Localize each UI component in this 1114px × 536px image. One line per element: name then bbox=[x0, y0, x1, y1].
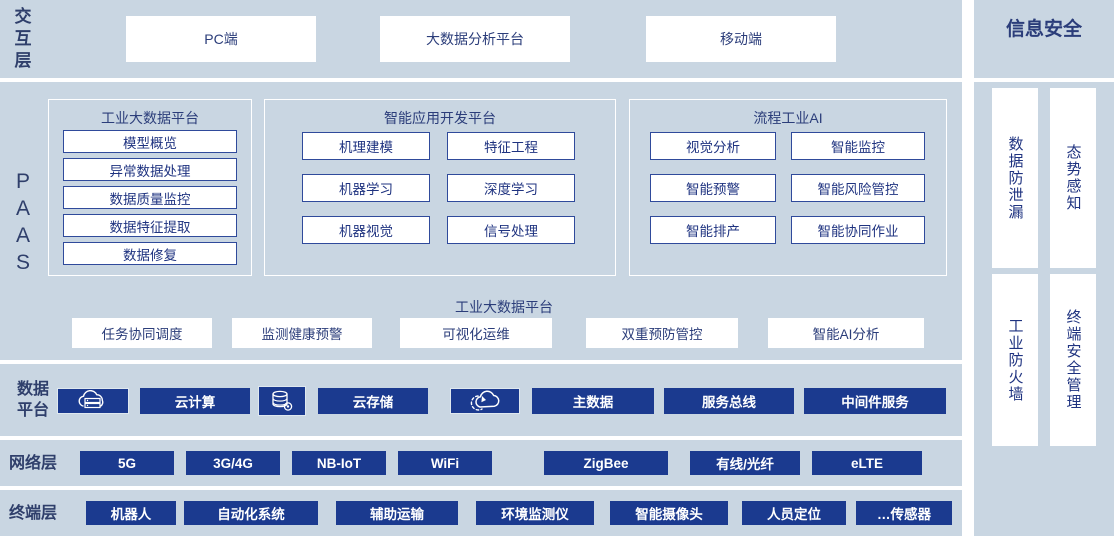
interaction-layer-label: 交 互 层 bbox=[0, 0, 46, 78]
paas-label-c3: A bbox=[16, 222, 30, 249]
interaction-item-mobile[interactable]: 移动端 bbox=[646, 16, 836, 62]
data-platform-layer: 数据 平台 云计算 云存储 bbox=[0, 364, 962, 436]
network-chip-wifi[interactable]: WiFi bbox=[398, 451, 492, 475]
terminal-layer-label: 终端层 bbox=[0, 490, 66, 536]
paas-bottom-item-task-collaborative-scheduling[interactable]: 任务协同调度 bbox=[72, 318, 212, 348]
paas-item-deep-learning[interactable]: 深度学习 bbox=[447, 174, 575, 202]
paas-item-intelligent-production-scheduling[interactable]: 智能排产 bbox=[650, 216, 776, 244]
paas-group-title-process-industry-ai: 流程工业AI bbox=[630, 108, 946, 128]
paas-item-intelligent-early-warning[interactable]: 智能预警 bbox=[650, 174, 776, 202]
network-layer-label: 网络层 bbox=[0, 440, 66, 486]
security-title: 信息安全 bbox=[974, 14, 1114, 41]
cloud-sync-icon[interactable] bbox=[450, 388, 520, 414]
paas-item-intelligent-monitoring[interactable]: 智能监控 bbox=[791, 132, 925, 160]
terminal-chip-auxiliary-transport[interactable]: 辅助运输 bbox=[336, 501, 458, 525]
paas-item-data-repair[interactable]: 数据修复 bbox=[63, 242, 237, 265]
paas-group-industrial-bigdata-platform: 工业大数据平台 模型概览 异常数据处理 数据质量监控 数据特征提取 数据修复 bbox=[48, 99, 252, 276]
data-platform-chip-cloud-storage[interactable]: 云存储 bbox=[318, 388, 428, 414]
terminal-chip-robot[interactable]: 机器人 bbox=[86, 501, 176, 525]
paas-item-data-feature-extraction[interactable]: 数据特征提取 bbox=[63, 214, 237, 237]
data-platform-chip-cloud-computing[interactable]: 云计算 bbox=[140, 388, 250, 414]
paas-group-process-industry-ai: 流程工业AI 视觉分析 智能监控 智能预警 智能风险管控 智能排产 智能协同作业 bbox=[629, 99, 947, 276]
cloud-server-icon[interactable] bbox=[57, 388, 129, 414]
interaction-layer-label-c3: 层 bbox=[15, 50, 32, 72]
terminal-layer: 终端层 机器人 自动化系统 辅助运输 环境监测仪 智能摄像头 人员定位 …传感器 bbox=[0, 490, 962, 536]
architecture-diagram: 交 互 层 PC端 大数据分析平台 移动端 P A A S 工业大数据平台 模型… bbox=[0, 0, 1114, 536]
security-card-terminal-security-management[interactable]: 终端安全管理 bbox=[1050, 274, 1096, 446]
interaction-layer: 交 互 层 PC端 大数据分析平台 移动端 bbox=[0, 0, 962, 78]
paas-group-title-intelligent-app-dev-platform: 智能应用开发平台 bbox=[265, 108, 615, 128]
paas-layer: P A A S 工业大数据平台 模型概览 异常数据处理 数据质量监控 数据特征提… bbox=[0, 82, 962, 360]
data-platform-label-line2: 平台 bbox=[17, 400, 49, 421]
paas-item-machine-learning[interactable]: 机器学习 bbox=[302, 174, 430, 202]
data-platform-chip-middleware-service[interactable]: 中间件服务 bbox=[804, 388, 946, 414]
interaction-layer-label-c2: 互 bbox=[15, 28, 32, 50]
paas-item-feature-engineering[interactable]: 特征工程 bbox=[447, 132, 575, 160]
paas-group-title-industrial-bigdata-platform: 工业大数据平台 bbox=[49, 108, 251, 128]
paas-item-data-quality-monitoring[interactable]: 数据质量监控 bbox=[63, 186, 237, 209]
terminal-chip-automation-system[interactable]: 自动化系统 bbox=[184, 501, 318, 525]
paas-bottom-item-visual-operation-maintenance[interactable]: 可视化运维 bbox=[400, 318, 552, 348]
paas-item-model-overview[interactable]: 模型概览 bbox=[63, 130, 237, 153]
network-chip-elte[interactable]: eLTE bbox=[812, 451, 922, 475]
security-card-data-leak-prevention[interactable]: 数据防泄漏 bbox=[992, 88, 1038, 268]
interaction-item-bigdata-analysis[interactable]: 大数据分析平台 bbox=[380, 16, 570, 62]
paas-item-intelligent-collaborative-operation[interactable]: 智能协同作业 bbox=[791, 216, 925, 244]
paas-item-visual-analysis[interactable]: 视觉分析 bbox=[650, 132, 776, 160]
paas-item-intelligent-risk-control[interactable]: 智能风险管控 bbox=[791, 174, 925, 202]
terminal-chip-smart-camera[interactable]: 智能摄像头 bbox=[610, 501, 728, 525]
data-platform-chip-master-data[interactable]: 主数据 bbox=[532, 388, 654, 414]
security-card-situational-awareness[interactable]: 态势感知 bbox=[1050, 88, 1096, 268]
paas-bottom-item-intelligent-ai-analysis[interactable]: 智能AI分析 bbox=[768, 318, 924, 348]
network-layer: 网络层 5G 3G/4G NB-IoT WiFi ZigBee 有线/光纤 eL… bbox=[0, 440, 962, 486]
network-chip-wired-fiber[interactable]: 有线/光纤 bbox=[690, 451, 800, 475]
network-chip-3g4g[interactable]: 3G/4G bbox=[186, 451, 280, 475]
network-chip-zigbee[interactable]: ZigBee bbox=[544, 451, 668, 475]
paas-label-c2: A bbox=[16, 195, 30, 222]
paas-bottom-title: 工业大数据平台 bbox=[46, 297, 962, 317]
paas-item-mechanism-modeling[interactable]: 机理建模 bbox=[302, 132, 430, 160]
data-platform-label-line1: 数据 bbox=[17, 379, 49, 400]
interaction-layer-label-c1: 交 bbox=[15, 6, 32, 28]
database-gear-icon[interactable] bbox=[258, 386, 306, 416]
paas-group-intelligent-app-dev-platform: 智能应用开发平台 机理建模 特征工程 机器学习 深度学习 机器视觉 信号处理 bbox=[264, 99, 616, 276]
paas-label-c1: P bbox=[16, 168, 30, 195]
paas-layer-label: P A A S bbox=[0, 122, 46, 322]
terminal-chip-personnel-positioning[interactable]: 人员定位 bbox=[742, 501, 846, 525]
interaction-item-pc[interactable]: PC端 bbox=[126, 16, 316, 62]
paas-item-machine-vision[interactable]: 机器视觉 bbox=[302, 216, 430, 244]
network-chip-5g[interactable]: 5G bbox=[80, 451, 174, 475]
network-chip-nbiot[interactable]: NB-IoT bbox=[292, 451, 386, 475]
paas-item-abnormal-data-processing[interactable]: 异常数据处理 bbox=[63, 158, 237, 181]
data-platform-chip-service-bus[interactable]: 服务总线 bbox=[664, 388, 794, 414]
security-card-industrial-firewall[interactable]: 工业防火墙 bbox=[992, 274, 1038, 446]
paas-label-c4: S bbox=[16, 249, 30, 276]
paas-bottom-item-dual-prevention-control[interactable]: 双重预防管控 bbox=[586, 318, 738, 348]
paas-item-signal-processing[interactable]: 信号处理 bbox=[447, 216, 575, 244]
terminal-chip-environment-monitor[interactable]: 环境监测仪 bbox=[476, 501, 594, 525]
paas-bottom-item-health-monitoring-warning[interactable]: 监测健康预警 bbox=[232, 318, 372, 348]
terminal-chip-sensors[interactable]: …传感器 bbox=[856, 501, 952, 525]
